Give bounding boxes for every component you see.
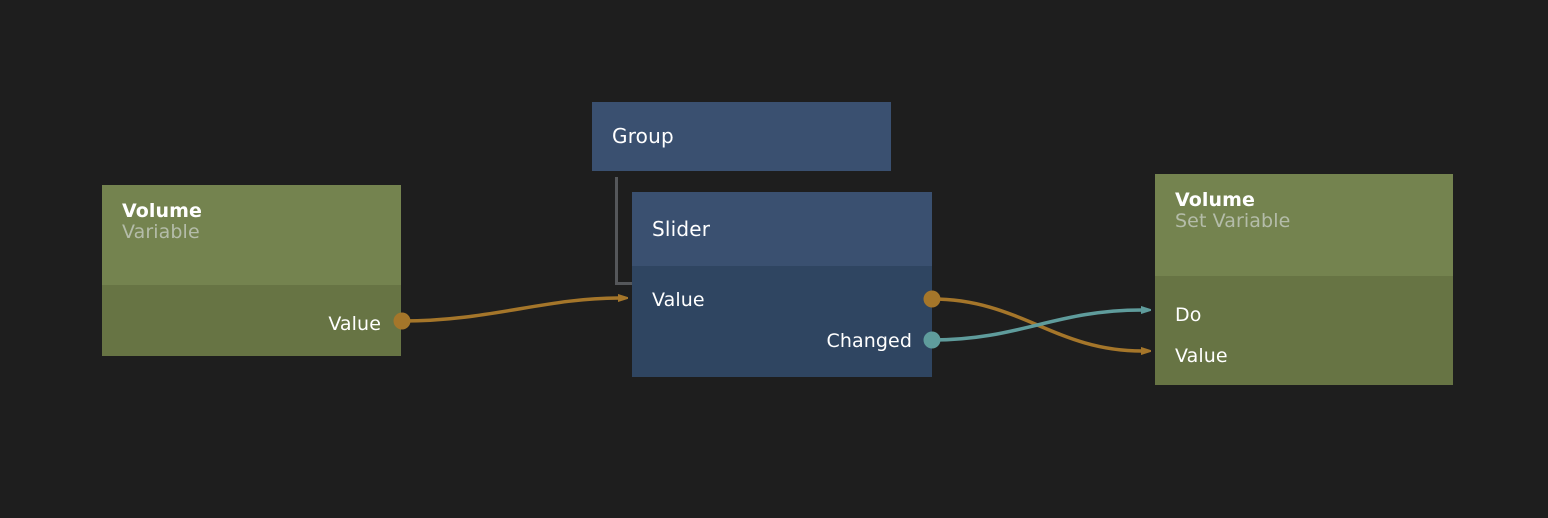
node-volume-variable[interactable]: Volume Variable Value [102,185,401,356]
node-title: Volume [122,201,381,222]
node-body: Do Value [1155,276,1453,385]
group-child-bracket [615,177,633,285]
input-port-label-value: Value [1175,347,1228,366]
output-port-dot-volume-value[interactable] [394,313,411,330]
node-title: Volume [1175,190,1433,211]
node-subtitle: Variable [122,222,381,243]
output-port-label-changed: Changed [826,332,912,351]
node-group[interactable]: Group [592,102,891,171]
output-port-label-value: Value [328,315,381,334]
wire-volume-value-to-slider-value[interactable] [402,298,619,321]
input-port-label-do: Do [1175,306,1201,325]
node-subtitle: Set Variable [1175,211,1433,232]
node-volume-set-variable[interactable]: Volume Set Variable Do Value [1155,174,1453,385]
node-title: Slider [652,218,710,240]
node-slider[interactable]: Slider Value Changed [632,192,932,377]
node-header: Group [592,102,891,171]
wire-slider-changed-to-setvariable-do[interactable] [932,310,1142,340]
node-header: Volume Variable [102,185,401,285]
node-graph-canvas[interactable]: Volume Variable Value Group Slider Value… [0,0,1548,518]
node-header: Slider [632,192,932,266]
output-port-dot-slider-changed[interactable] [924,332,941,349]
node-body: Value Changed [632,266,932,377]
node-header: Volume Set Variable [1155,174,1453,276]
output-port-dot-slider-value[interactable] [924,291,941,308]
node-title: Group [612,125,674,147]
node-body: Value [102,285,401,356]
wire-slider-value-to-setvariable-value[interactable] [932,299,1142,351]
input-port-label-value: Value [652,291,705,310]
